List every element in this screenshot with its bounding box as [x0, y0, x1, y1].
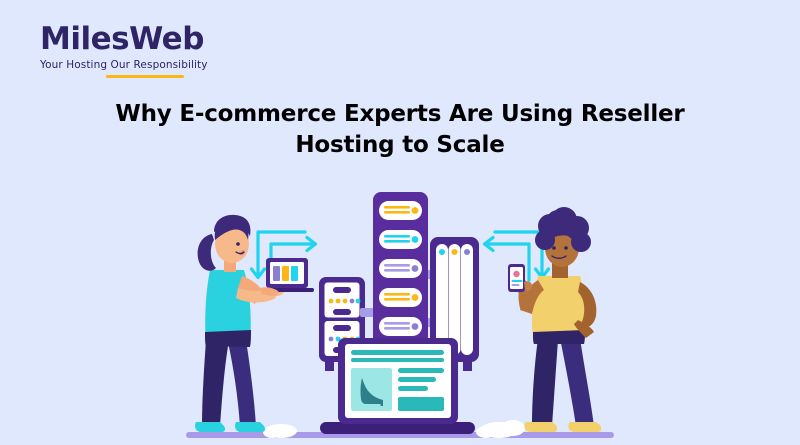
logo-tagline: Your Hosting Our Responsibility: [40, 60, 240, 71]
ecommerce-laptop: [320, 338, 475, 434]
page-title: Why E-commerce Experts Are Using Reselle…: [70, 99, 730, 162]
man-with-phone: [508, 207, 601, 432]
smartphone: [508, 264, 525, 292]
logo-underline: [106, 75, 184, 78]
milesweb-logo[interactable]: MilesWeb Your Hosting Our Responsibility: [40, 24, 240, 78]
banner-image: MilesWeb Your Hosting Our Responsibility…: [0, 0, 800, 445]
hero-illustration: [180, 160, 620, 445]
logo-wordmark: MilesWeb: [40, 24, 240, 55]
woman-with-laptop: [195, 215, 314, 432]
page-title-line-1: Why E-commerce Experts Are Using Reselle…: [115, 101, 684, 127]
held-laptop: [262, 258, 314, 292]
page-title-line-2: Hosting to Scale: [295, 132, 504, 158]
